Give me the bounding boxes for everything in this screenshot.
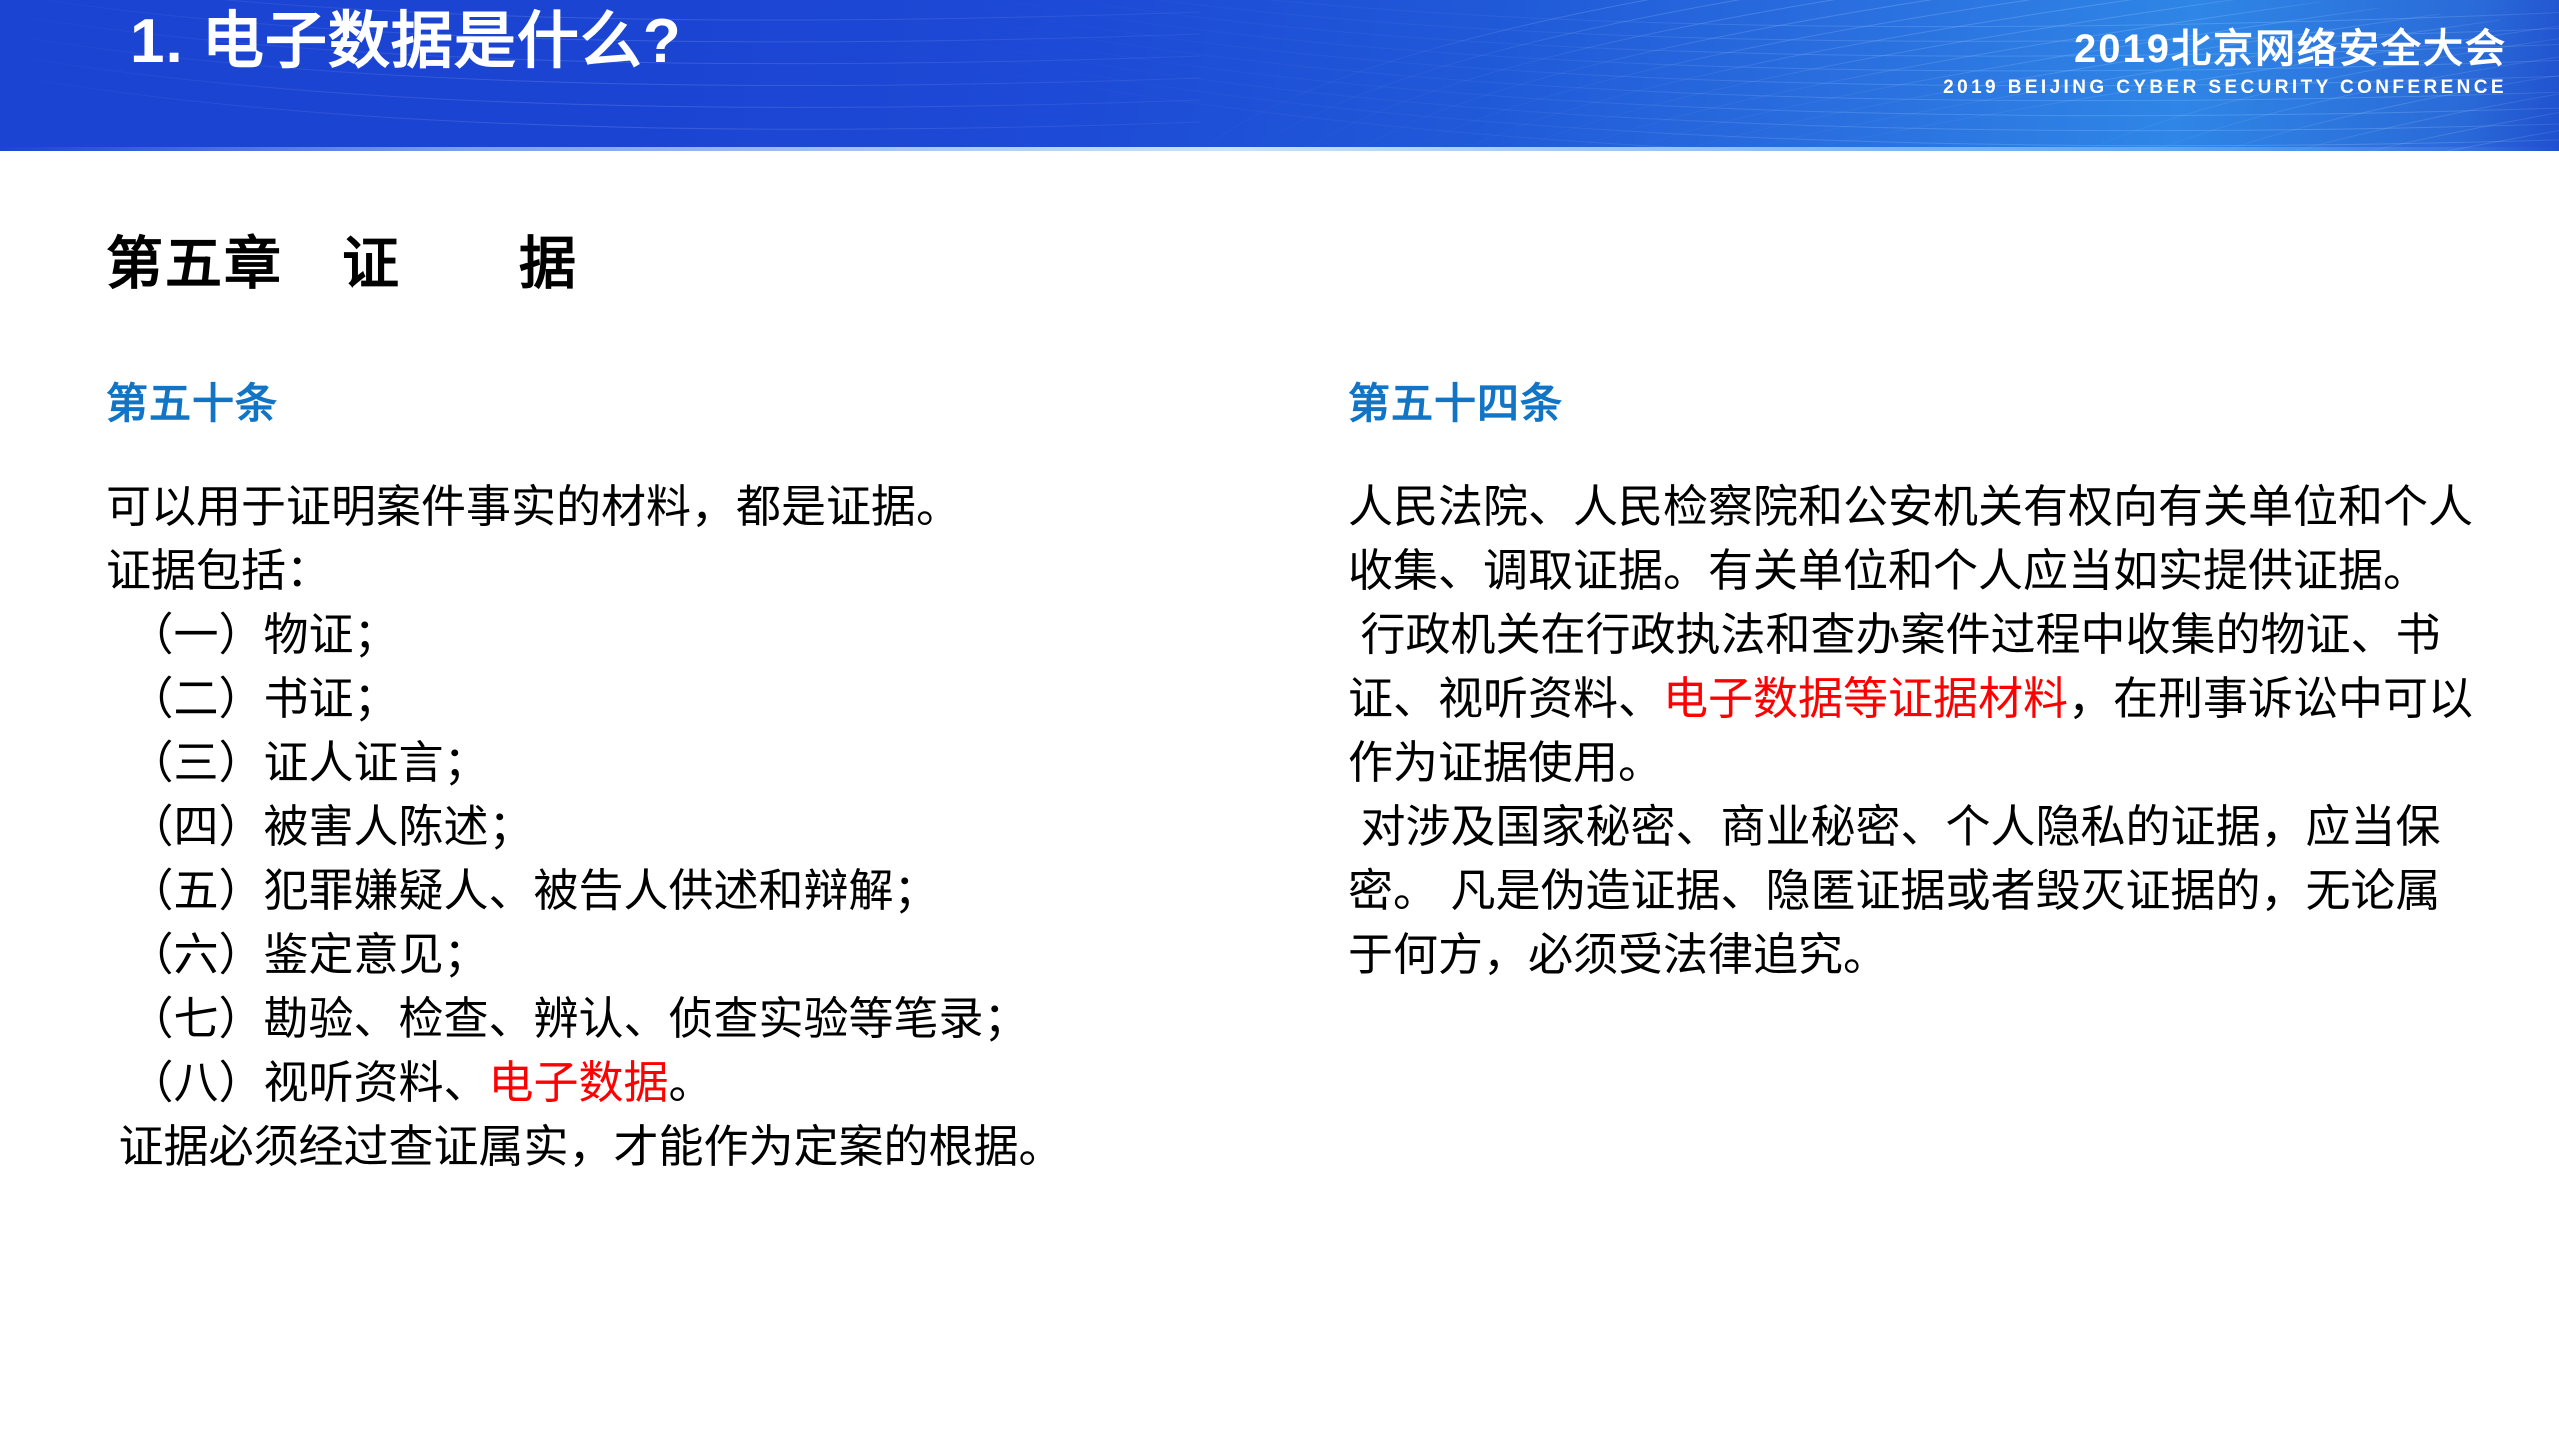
conference-logo-title-cn: 2019北京网络安全大会 <box>1943 26 2507 72</box>
article-column-right: 第五十四条 人民法院、人民检察院和公安机关有权向有关单位和个人收集、调取证据。有… <box>1348 370 2478 987</box>
highlighted-text: 电子数据 <box>489 1057 669 1108</box>
conference-logo: 2019北京网络安全大会 2019 BEIJING CYBER SECURITY… <box>1943 26 2507 101</box>
banner-bottom-divider <box>0 147 2559 151</box>
conference-logo-title-en: 2019 BEIJING CYBER SECURITY CONFERENCE <box>1943 75 2507 101</box>
header-banner: 1. 电子数据是什么? 2019北京网络安全大会 2019 BEIJING CY… <box>0 0 2559 151</box>
article-column-left: 第五十条 可以用于证明案件事实的材料，都是证据。 证据包括： （一）物证； （二… <box>106 370 1256 1179</box>
article-body-left: 可以用于证明案件事实的材料，都是证据。 证据包括： （一）物证； （二）书证； … <box>106 475 1256 1179</box>
body-text: 可以用于证明案件事实的材料，都是证据。 证据包括： （一）物证； （二）书证； … <box>106 481 1029 1108</box>
article-title-right: 第五十四条 <box>1348 370 2478 431</box>
article-body-right: 人民法院、人民检察院和公安机关有权向有关单位和个人收集、调取证据。有关单位和个人… <box>1348 475 2478 987</box>
article-title-left: 第五十条 <box>106 370 1256 431</box>
chapter-heading: 第五章 证 据 <box>106 218 578 300</box>
slide-title: 1. 电子数据是什么? <box>130 4 1630 80</box>
highlighted-text: 电子数据等证据材料 <box>1663 673 2068 724</box>
